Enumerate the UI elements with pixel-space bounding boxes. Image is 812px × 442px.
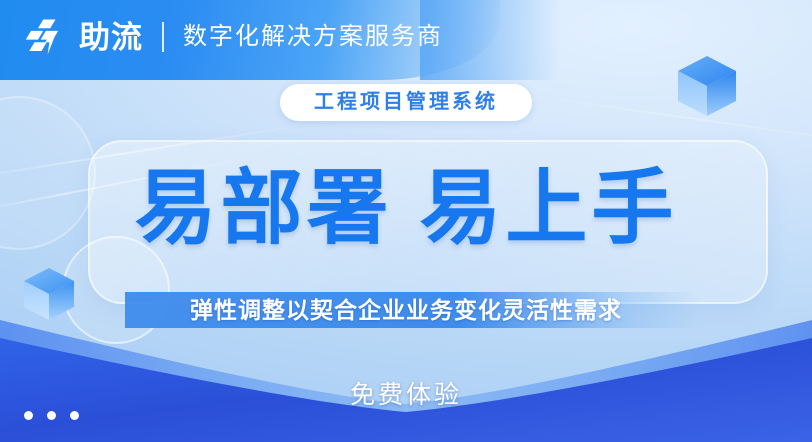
carousel-dot-1[interactable] <box>24 411 33 420</box>
carousel-dots <box>24 411 79 420</box>
product-badge: 工程项目管理系统 <box>280 84 532 121</box>
hero-headline: 易部署 易上手 <box>0 168 812 250</box>
logo-wordmark: 助流 <box>79 22 143 53</box>
promo-banner: 助流 数字化解决方案服务商 工程项目管理系统 <box>0 0 812 442</box>
carousel-dot-2[interactable] <box>47 411 56 420</box>
header-tagline: 数字化解决方案服务商 <box>183 25 443 49</box>
zhuliu-lightning-logo-icon <box>24 16 66 58</box>
cube-icon <box>676 54 738 118</box>
hero-subtitle: 弹性调整以契合企业业务变化灵活性需求 <box>0 296 812 324</box>
carousel-dot-3[interactable] <box>70 411 79 420</box>
cta-free-trial[interactable]: 免费体验 <box>0 383 812 408</box>
wave-divider-icon <box>0 312 812 442</box>
product-badge-label: 工程项目管理系统 <box>314 91 498 113</box>
header-divider <box>162 22 164 52</box>
header: 助流 数字化解决方案服务商 <box>24 12 443 62</box>
